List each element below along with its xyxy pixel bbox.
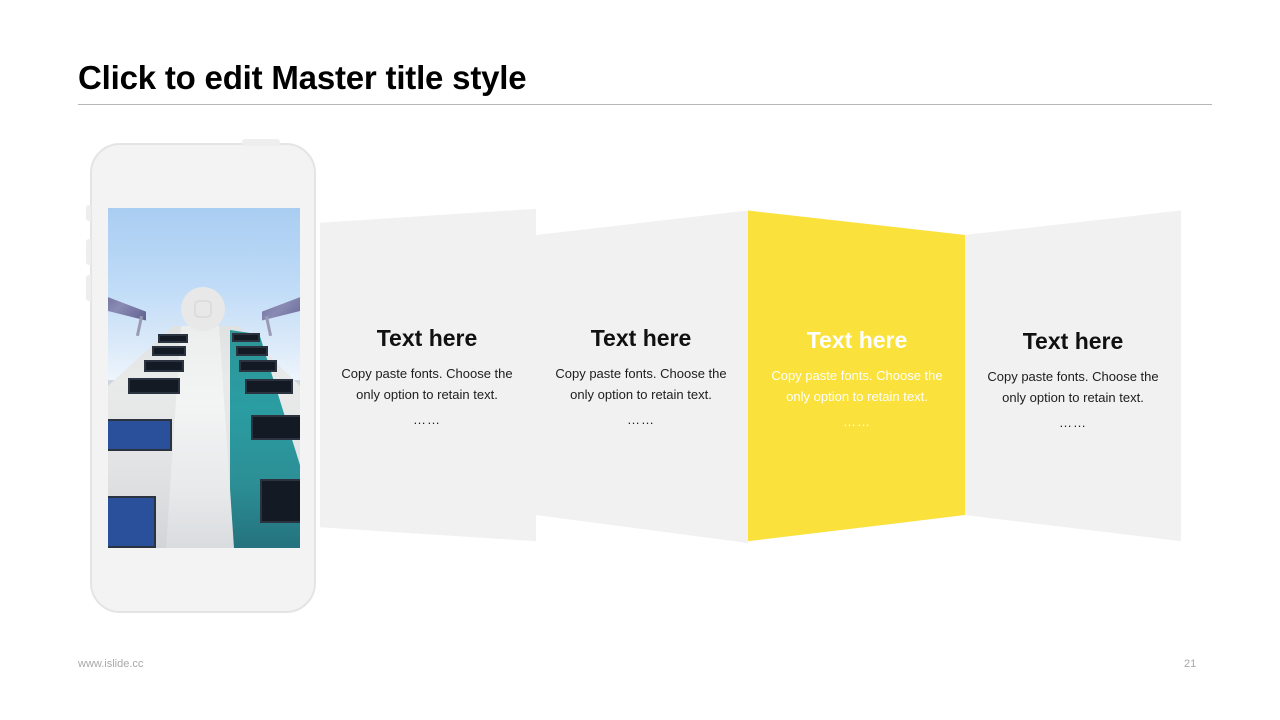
accordion-panel-1-text: Text here Copy paste fonts. Choose the o… — [332, 324, 522, 430]
title-divider — [78, 104, 1212, 105]
accordion-panel-4-dots: …… — [978, 412, 1168, 433]
accordion-panel-1-body: Copy paste fonts. Choose the only option… — [332, 363, 522, 405]
page-title[interactable]: Click to edit Master title style — [78, 56, 1212, 100]
photo-window — [239, 360, 277, 372]
accordion-panel-2-dots: …… — [546, 409, 736, 430]
accordion-panel-4-text: Text here Copy paste fonts. Choose the o… — [978, 327, 1168, 433]
phone-volume-up-icon — [86, 239, 91, 265]
phone-home-button[interactable] — [181, 287, 225, 331]
photo-window — [108, 419, 172, 451]
phone-volume-down-icon — [86, 275, 91, 301]
smartphone-mockup — [90, 143, 316, 613]
accordion-panel-2-body: Copy paste fonts. Choose the only option… — [546, 363, 736, 405]
footer-url: www.islide.cc — [78, 658, 143, 670]
accordion-panel-3-body: Copy paste fonts. Choose the only option… — [762, 365, 952, 407]
phone-screen-photo — [108, 208, 300, 548]
photo-window — [144, 360, 184, 372]
photo-window — [108, 496, 156, 548]
accordion-panel-2-text: Text here Copy paste fonts. Choose the o… — [546, 324, 736, 430]
accordion-panel-4-body: Copy paste fonts. Choose the only option… — [978, 366, 1168, 408]
phone-home-square-icon — [194, 300, 212, 318]
photo-window — [245, 379, 293, 394]
accordion-panel-1-heading: Text here — [332, 324, 522, 352]
title-block: Click to edit Master title style — [78, 56, 1212, 100]
accordion-panel-4-heading: Text here — [978, 327, 1168, 355]
photo-window — [236, 346, 268, 356]
accordion-panel-3-text: Text here Copy paste fonts. Choose the o… — [762, 326, 952, 432]
photo-window — [251, 415, 300, 440]
photo-window — [158, 334, 188, 343]
photo-window — [260, 479, 300, 523]
accordion-panel-3-dots: …… — [762, 411, 952, 432]
accordion-panel-2-heading: Text here — [546, 324, 736, 352]
photo-window — [128, 378, 180, 394]
accordion-panel-1-dots: …… — [332, 409, 522, 430]
phone-power-button-icon — [242, 139, 280, 146]
footer-page-number: 21 — [1184, 658, 1196, 670]
photo-window — [232, 333, 260, 342]
accordion-panel-3-heading: Text here — [762, 326, 952, 354]
phone-mute-switch-icon — [86, 205, 91, 221]
photo-window — [152, 346, 186, 356]
